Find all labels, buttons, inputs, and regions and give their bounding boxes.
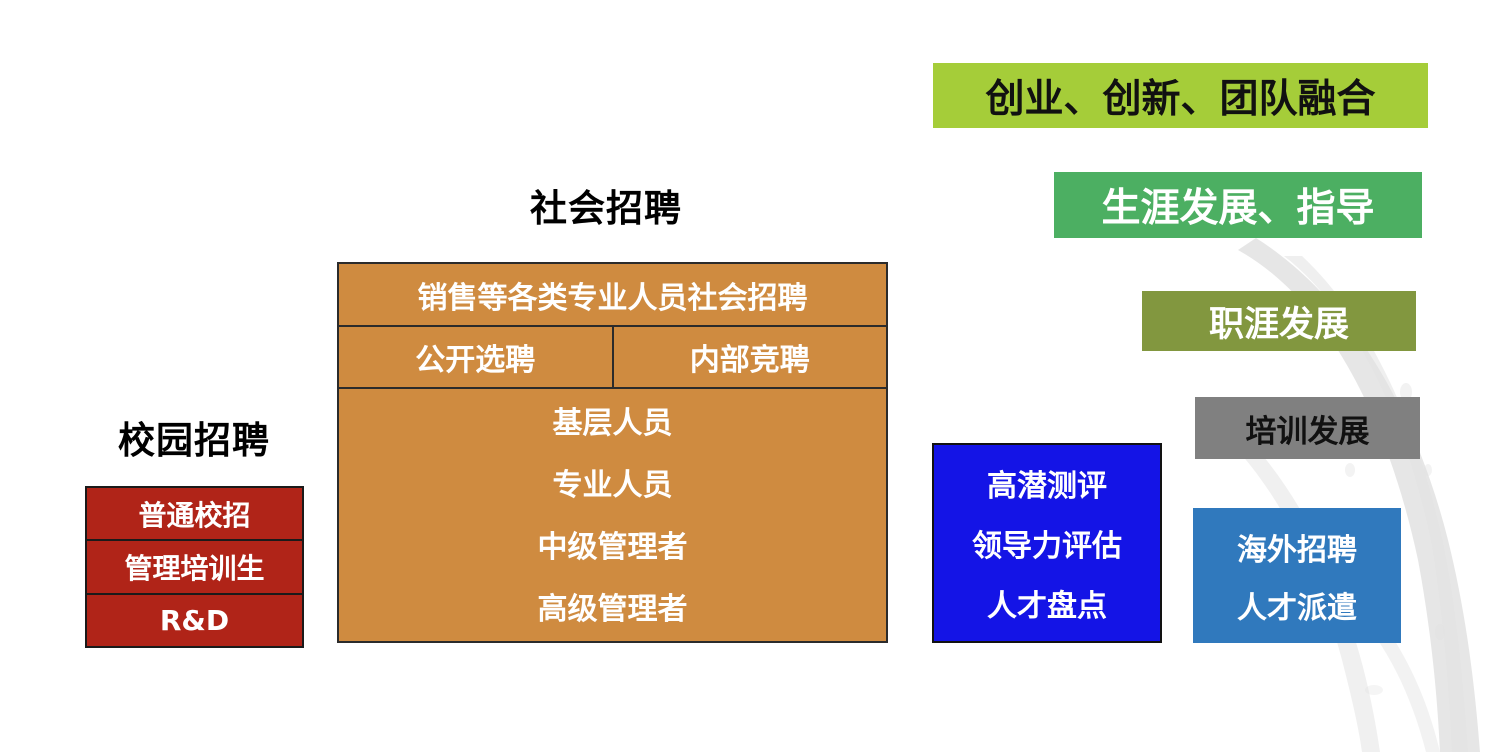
social-recruitment-heading: 社会招聘 bbox=[530, 178, 682, 232]
social-level-professional[interactable]: 专业人员 bbox=[553, 460, 673, 504]
overseas-item-talent-dispatch[interactable]: 人才派遣 bbox=[1237, 583, 1357, 627]
overseas-item-overseas-recruiting[interactable]: 海外招聘 bbox=[1237, 525, 1357, 569]
assessment-item-leadership-evaluation[interactable]: 领导力评估 bbox=[972, 521, 1122, 565]
social-professional-hiring-cell[interactable]: 销售等各类专业人员社会招聘 bbox=[339, 264, 886, 325]
social-level-middle-manager[interactable]: 中级管理者 bbox=[538, 522, 688, 566]
table-row: 销售等各类专业人员社会招聘 bbox=[339, 264, 886, 327]
social-level-senior-manager[interactable]: 高级管理者 bbox=[538, 584, 688, 628]
campus-item-regular[interactable]: 普通校招 bbox=[87, 488, 302, 541]
social-recruitment-table: 销售等各类专业人员社会招聘 公开选聘 内部竞聘 基层人员 专业人员 中级管理者 … bbox=[337, 262, 888, 643]
bar-training-development[interactable]: 培训发展 bbox=[1195, 397, 1420, 459]
social-level-entry[interactable]: 基层人员 bbox=[553, 398, 673, 442]
assessment-item-talent-review[interactable]: 人才盘点 bbox=[987, 581, 1107, 625]
slide-canvas: 校园招聘 普通校招 管理培训生 R&D 社会招聘 销售等各类专业人员社会招聘 公… bbox=[0, 0, 1508, 752]
campus-recruitment-heading: 校园招聘 bbox=[118, 410, 270, 464]
bar-career-development-guidance[interactable]: 生涯发展、指导 bbox=[1054, 172, 1422, 238]
table-row: 公开选聘 内部竞聘 bbox=[339, 327, 886, 389]
talent-assessment-group: 高潜测评 领导力评估 人才盘点 bbox=[932, 443, 1162, 643]
assessment-item-high-potential[interactable]: 高潜测评 bbox=[987, 461, 1107, 505]
social-internal-competition-cell[interactable]: 内部竞聘 bbox=[614, 327, 887, 387]
bar-professional-development[interactable]: 职涯发展 bbox=[1142, 291, 1416, 351]
campus-recruitment-group: 普通校招 管理培训生 R&D bbox=[85, 486, 304, 648]
social-levels-cell: 基层人员 专业人员 中级管理者 高级管理者 bbox=[339, 389, 886, 641]
social-open-selection-cell[interactable]: 公开选聘 bbox=[339, 327, 614, 387]
campus-item-management-trainee[interactable]: 管理培训生 bbox=[87, 541, 302, 594]
bar-entrepreneurship-innovation-team[interactable]: 创业、创新、团队融合 bbox=[933, 63, 1428, 128]
overseas-recruitment-group: 海外招聘 人才派遣 bbox=[1193, 508, 1401, 643]
campus-item-rnd[interactable]: R&D bbox=[87, 595, 302, 646]
